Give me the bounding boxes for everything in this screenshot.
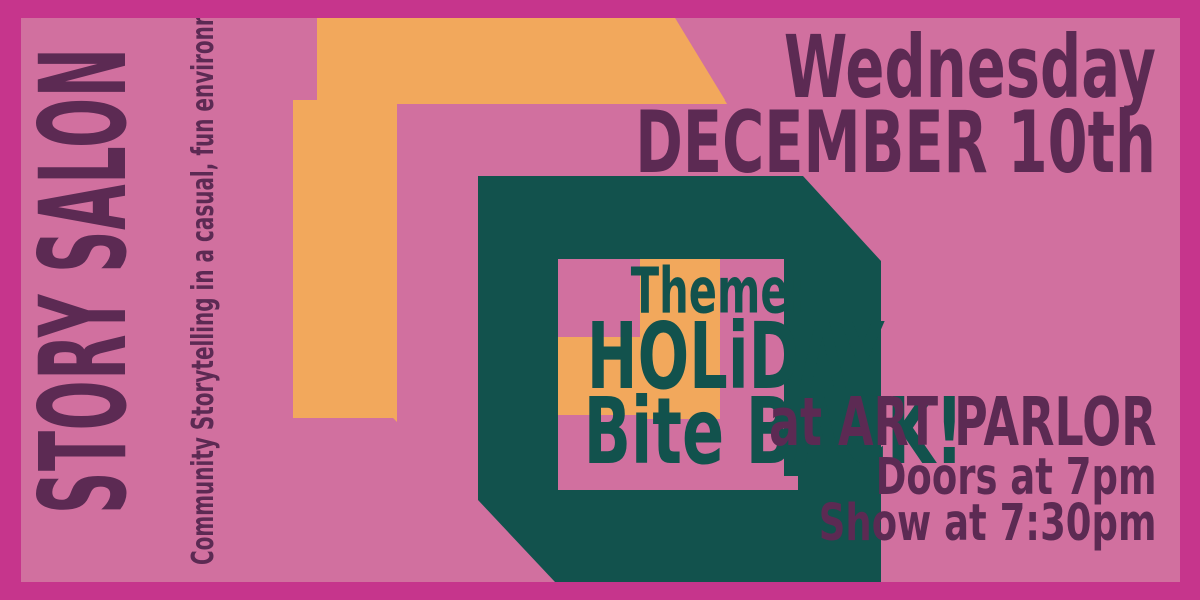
brand-lockup: STORY SALON Community Storytelling in a …: [21, 18, 241, 582]
event-flyer: Theme: HOLiDAY Bite BACK! STORY SALON Co…: [0, 0, 1200, 600]
brand-tagline: Community Storytelling in a casual, fun …: [188, 18, 218, 565]
event-day-month: DECEMBER 10th: [635, 100, 1156, 185]
brand-title: STORY SALON: [30, 47, 140, 514]
brand-tagline-rotator: Community Storytelling in a casual, fun …: [188, 25, 218, 565]
event-date-block: Wednesday DECEMBER 10th: [521, 24, 1156, 170]
event-venue-block: at ART PARLOR Doors at 7pm Show at 7:30p…: [684, 390, 1156, 542]
flyer-inner-field: Theme: HOLiDAY Bite BACK! STORY SALON Co…: [21, 18, 1180, 582]
show-time: Show at 7:30pm: [759, 498, 1156, 549]
brand-title-rotator: STORY SALON: [25, 18, 145, 514]
